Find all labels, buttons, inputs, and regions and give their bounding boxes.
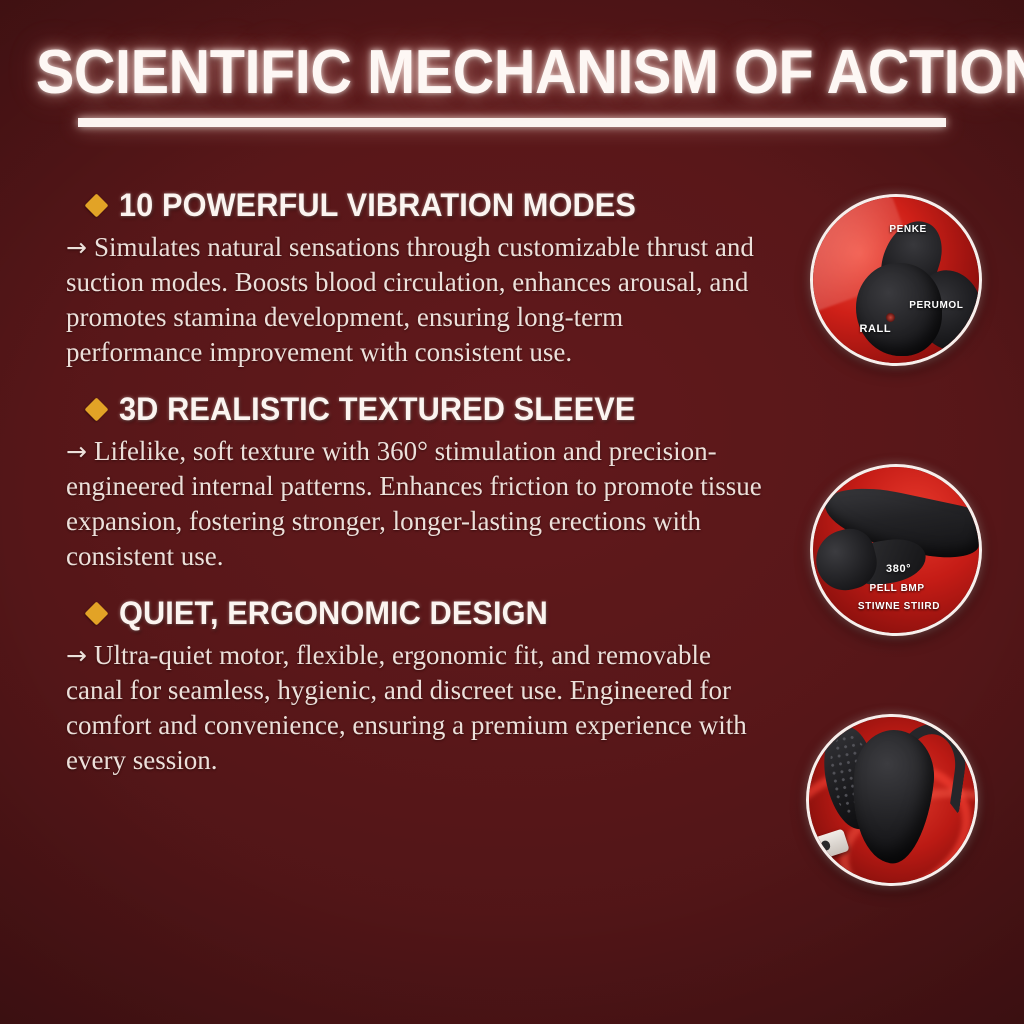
photo-inner: PENKE RALL PERUMOL (813, 197, 979, 363)
photo-caption: PELL BMP (869, 583, 924, 594)
feature-body-text: Simulates natural sensations through cus… (66, 232, 754, 367)
feature-heading-row: QUIET, ERGONOMIC DESIGN (66, 594, 772, 632)
feature-body-text: Lifelike, soft texture with 360° stimula… (66, 436, 762, 571)
photo-inner (809, 717, 975, 883)
arrow-right-icon: → (66, 437, 94, 466)
feature-body-text: Ultra-quiet motor, flexible, ergonomic f… (66, 640, 747, 775)
photo-caption: 380° (886, 563, 911, 575)
diamond-bullet-icon (84, 193, 108, 217)
product-photo-textured-sleeve: 380° PELL BMP STIWNE STIIRD (810, 464, 982, 636)
page-title: SCIENTIFIC MECHANISM OF ACTION (36, 40, 988, 106)
photo-inner: 380° PELL BMP STIWNE STIIRD (813, 467, 979, 633)
feature-item-textured-sleeve: 3D REALISTIC TEXTURED SLEEVE →Lifelike, … (66, 390, 772, 574)
feature-body-paragraph: →Ultra-quiet motor, flexible, ergonomic … (66, 638, 766, 778)
product-photo-vibration-modes: PENKE RALL PERUMOL (810, 194, 982, 366)
feature-body-paragraph: →Simulates natural sensations through cu… (66, 230, 766, 370)
page-title-block: SCIENTIFIC MECHANISM OF ACTION (0, 40, 1024, 127)
feature-item-vibration-modes: 10 POWERFUL VIBRATION MODES →Simulates n… (66, 186, 772, 370)
diamond-bullet-icon (84, 601, 108, 625)
photo-caption: PERUMOL (909, 300, 963, 311)
arrow-right-icon: → (66, 641, 94, 670)
title-underline-rule (78, 118, 946, 127)
feature-title: QUIET, ERGONOMIC DESIGN (119, 594, 548, 632)
poster-canvas: SCIENTIFIC MECHANISM OF ACTION 10 POWERF… (0, 0, 1024, 1024)
photo-caption: PENKE (889, 224, 926, 235)
photo-caption: STIWNE STIIRD (858, 601, 940, 612)
feature-heading-row: 10 POWERFUL VIBRATION MODES (66, 186, 772, 224)
arrow-right-icon: → (66, 233, 94, 262)
diamond-bullet-icon (84, 397, 108, 421)
feature-list: 10 POWERFUL VIBRATION MODES →Simulates n… (66, 186, 772, 778)
feature-item-ergonomic-design: QUIET, ERGONOMIC DESIGN →Ultra-quiet mot… (66, 594, 772, 778)
feature-heading-row: 3D REALISTIC TEXTURED SLEEVE (66, 390, 772, 428)
product-photo-ergonomic-design (806, 714, 978, 886)
photo-caption: RALL (859, 323, 891, 335)
feature-title: 3D REALISTIC TEXTURED SLEEVE (119, 390, 635, 428)
feature-body-paragraph: →Lifelike, soft texture with 360° stimul… (66, 434, 766, 574)
feature-title: 10 POWERFUL VIBRATION MODES (119, 186, 636, 224)
